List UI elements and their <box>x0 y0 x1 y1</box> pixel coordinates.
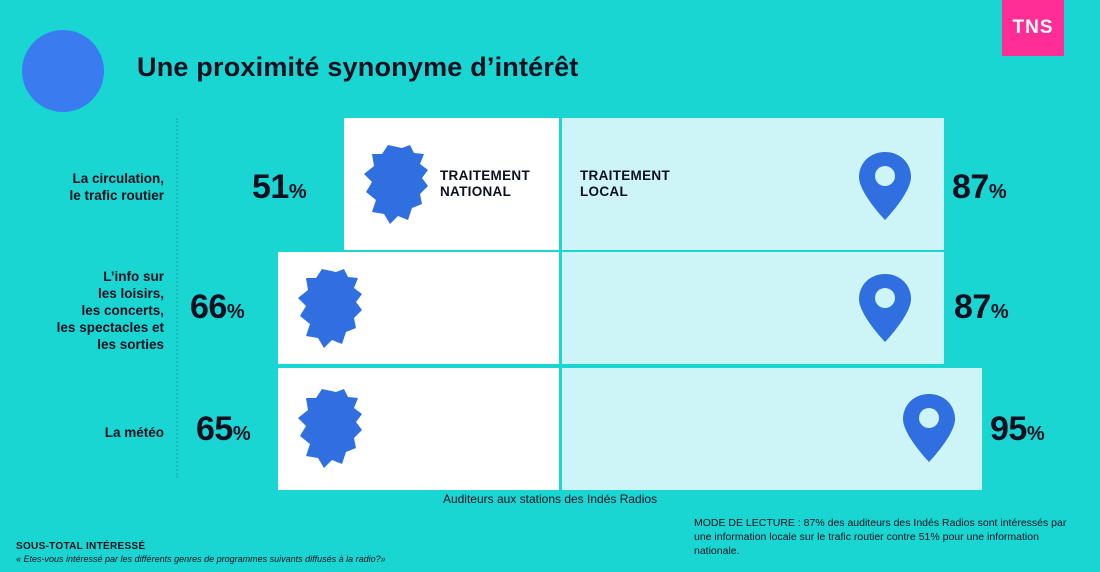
tns-logo: TNS <box>1002 0 1064 56</box>
row-1-national-value: 51% <box>252 168 306 207</box>
tns-logo-label: TNS <box>1013 17 1054 39</box>
page-title: Une proximité synonyme d’intérêt <box>137 52 579 83</box>
row-label-2: L’info sur les loisirs, les concerts, le… <box>14 268 164 353</box>
france-map-icon <box>292 266 372 352</box>
footer-question: « Etes-vous intéressé par les différents… <box>16 553 386 566</box>
location-pin-icon <box>898 392 960 464</box>
panel-national-2 <box>278 252 559 364</box>
row-3-local-value: 95% <box>990 410 1044 449</box>
chart-source-caption: Auditeurs aux stations des Indés Radios <box>0 492 1100 506</box>
row-label-3: La météo <box>14 424 164 441</box>
france-map-icon <box>358 142 438 228</box>
vertical-dotted-divider <box>176 118 179 478</box>
footer-subtotal-label: SOUS-TOTAL INTÉRESSÉ <box>16 540 386 553</box>
row-2-national-value: 66% <box>190 288 244 327</box>
panel-national-caption: TRAITEMENT NATIONAL <box>440 168 530 200</box>
row-label-1: La circulation, le trafic routier <box>14 170 164 204</box>
decorative-circle <box>22 30 104 112</box>
row-2-local-value: 87% <box>954 288 1008 327</box>
row-3-national-value: 65% <box>196 410 250 449</box>
panel-local-2 <box>562 252 944 364</box>
france-map-icon <box>292 386 372 472</box>
footer-note-left: SOUS-TOTAL INTÉRESSÉ « Etes-vous intéres… <box>16 540 386 566</box>
row-1-local-value: 87% <box>952 168 1006 207</box>
panel-national-1: TRAITEMENT NATIONAL <box>344 118 559 250</box>
location-pin-icon <box>854 272 916 344</box>
panel-local-1: TRAITEMENT LOCAL <box>562 118 944 250</box>
panel-national-3 <box>278 368 559 490</box>
footer-reading-key: MODE DE LECTURE : 87% des auditeurs des … <box>694 516 1084 558</box>
panel-local-caption: TRAITEMENT LOCAL <box>580 168 670 200</box>
location-pin-icon <box>854 150 916 222</box>
panel-local-3 <box>562 368 982 490</box>
